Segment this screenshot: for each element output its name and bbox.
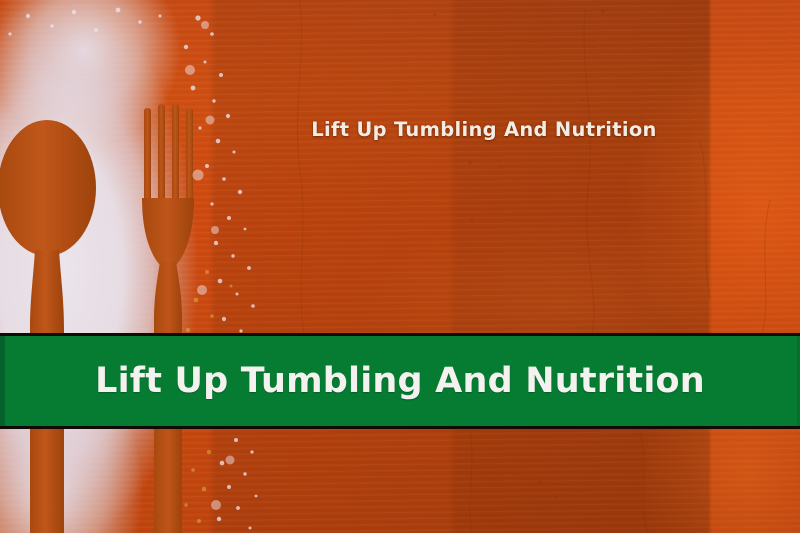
powder-speckle-scatter (0, 0, 300, 533)
banner-title-text: Lift Up Tumbling And Nutrition (95, 361, 705, 401)
food-photo: Lift Up Tumbling And Nutrition (0, 0, 800, 533)
banner-left-edge (0, 336, 5, 426)
screenshot-root: Lift Up Tumbling And Nutrition Lift Up T… (0, 0, 800, 533)
title-banner: Lift Up Tumbling And Nutrition (0, 333, 800, 429)
